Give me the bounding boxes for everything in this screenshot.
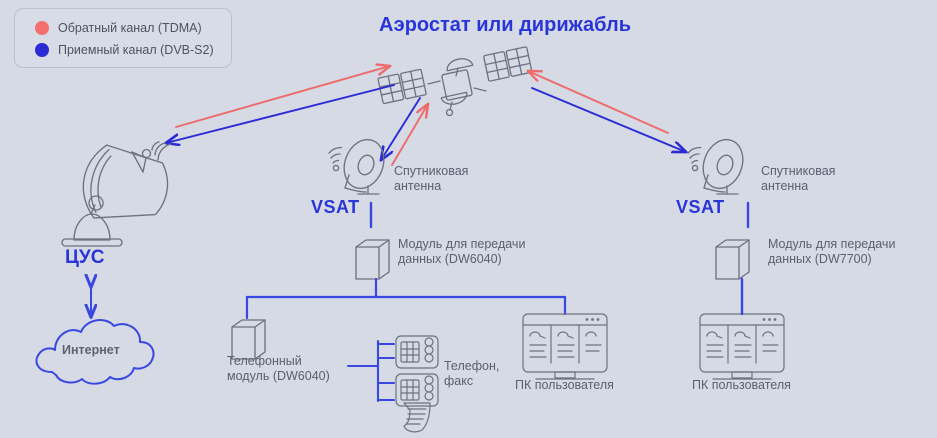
hub-label: ЦУС: [65, 251, 104, 266]
vsat-center-label: VSAT: [311, 200, 360, 215]
pc-center-icon: [523, 314, 607, 379]
satellite-icon: [378, 47, 532, 116]
vsat-right-antenna-icon: [688, 134, 749, 194]
hub-dish-antenna-icon: [62, 142, 173, 246]
vsat-center-module-icon: [356, 240, 389, 279]
vsat-right-antenna-label: Спутниковая антенна: [761, 164, 835, 193]
vsat-right-module-label: Модуль для передачи данных (DW7700): [768, 237, 895, 266]
pc-right-icon: [700, 314, 784, 379]
vsat-center-antenna-icon: [329, 134, 390, 194]
fax-icon: [396, 374, 438, 432]
vsat-right-label: VSAT: [676, 200, 725, 215]
link-vsat-right-receive-blue: [532, 88, 686, 152]
bus-center-distribution: [247, 279, 565, 318]
vsat-center-antenna-label: Спутниковая антенна: [394, 164, 468, 193]
telephone-icon: [396, 336, 438, 368]
link-hub-receive-blue: [166, 85, 394, 143]
link-hub-return-red: [176, 66, 390, 127]
phone-fax-label: Телефон, факс: [444, 359, 499, 388]
phone-module-label: Телефонный модуль (DW6040): [227, 354, 330, 383]
internet-label: Интернет: [62, 343, 120, 358]
pc-center-label: ПК пользователя: [515, 378, 614, 393]
diagram-canvas: Обратный канал (TDMA) Приемный канал (DV…: [0, 0, 937, 438]
vsat-right-module-icon: [716, 240, 749, 279]
vsat-center-module-label: Модуль для передачи данных (DW6040): [398, 237, 525, 266]
bus-phone-fax: [348, 341, 394, 401]
link-vsat-right-return-red: [528, 71, 668, 133]
pc-right-label: ПК пользователя: [692, 378, 791, 393]
